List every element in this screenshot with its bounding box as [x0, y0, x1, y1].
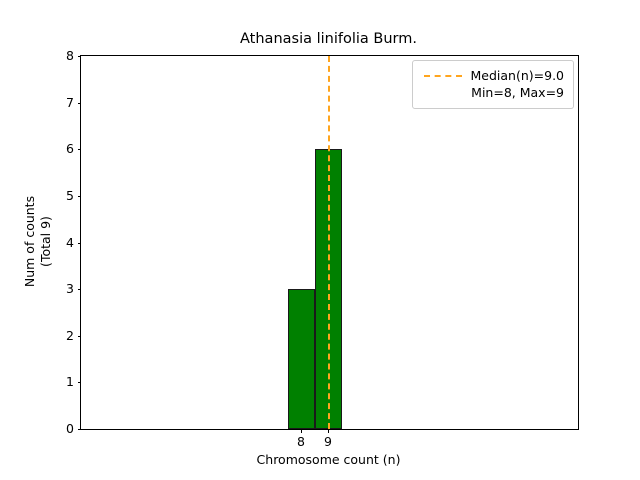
chart-legend[interactable]: Median(n)=9.0 Min=8, Max=9 [412, 60, 574, 109]
y-tick-label: 0 [66, 423, 74, 436]
x-tick-label: 8 [297, 435, 305, 449]
x-tick-label: 9 [324, 435, 332, 449]
y-tick-label: 5 [66, 190, 74, 203]
y-tick-label: 1 [66, 376, 74, 389]
y-axis-label-line1: Num of counts [22, 55, 38, 428]
y-tick-label: 3 [66, 283, 74, 296]
dashed-line-icon [424, 67, 462, 84]
x-axis-label: Chromosome count (n) [80, 452, 577, 467]
y-axis-label-line2: (Total 9) [38, 55, 54, 428]
y-tick-label: 7 [66, 96, 74, 109]
legend-label-range: Min=8, Max=9 [471, 84, 564, 101]
plot-area [81, 56, 578, 429]
y-tick-label: 8 [66, 50, 74, 63]
y-tick-label: 2 [66, 330, 74, 343]
bar-count-8 [288, 289, 315, 429]
matplotlib-figure: Athanasia linifolia Burm. 0 1 2 3 4 5 [0, 0, 640, 480]
legend-entry-median: Median(n)=9.0 [422, 67, 564, 84]
y-tick-label: 6 [66, 143, 74, 156]
median-line [328, 56, 330, 429]
legend-entry-range: Min=8, Max=9 [422, 84, 564, 101]
y-axis-label: Num of counts (Total 9) [22, 55, 56, 428]
legend-label-median: Median(n)=9.0 [471, 67, 565, 84]
plot-axes: 0 1 2 3 4 5 6 7 [80, 55, 579, 430]
y-tick-label: 4 [66, 236, 74, 249]
chart-title: Athanasia linifolia Burm. [80, 30, 577, 48]
